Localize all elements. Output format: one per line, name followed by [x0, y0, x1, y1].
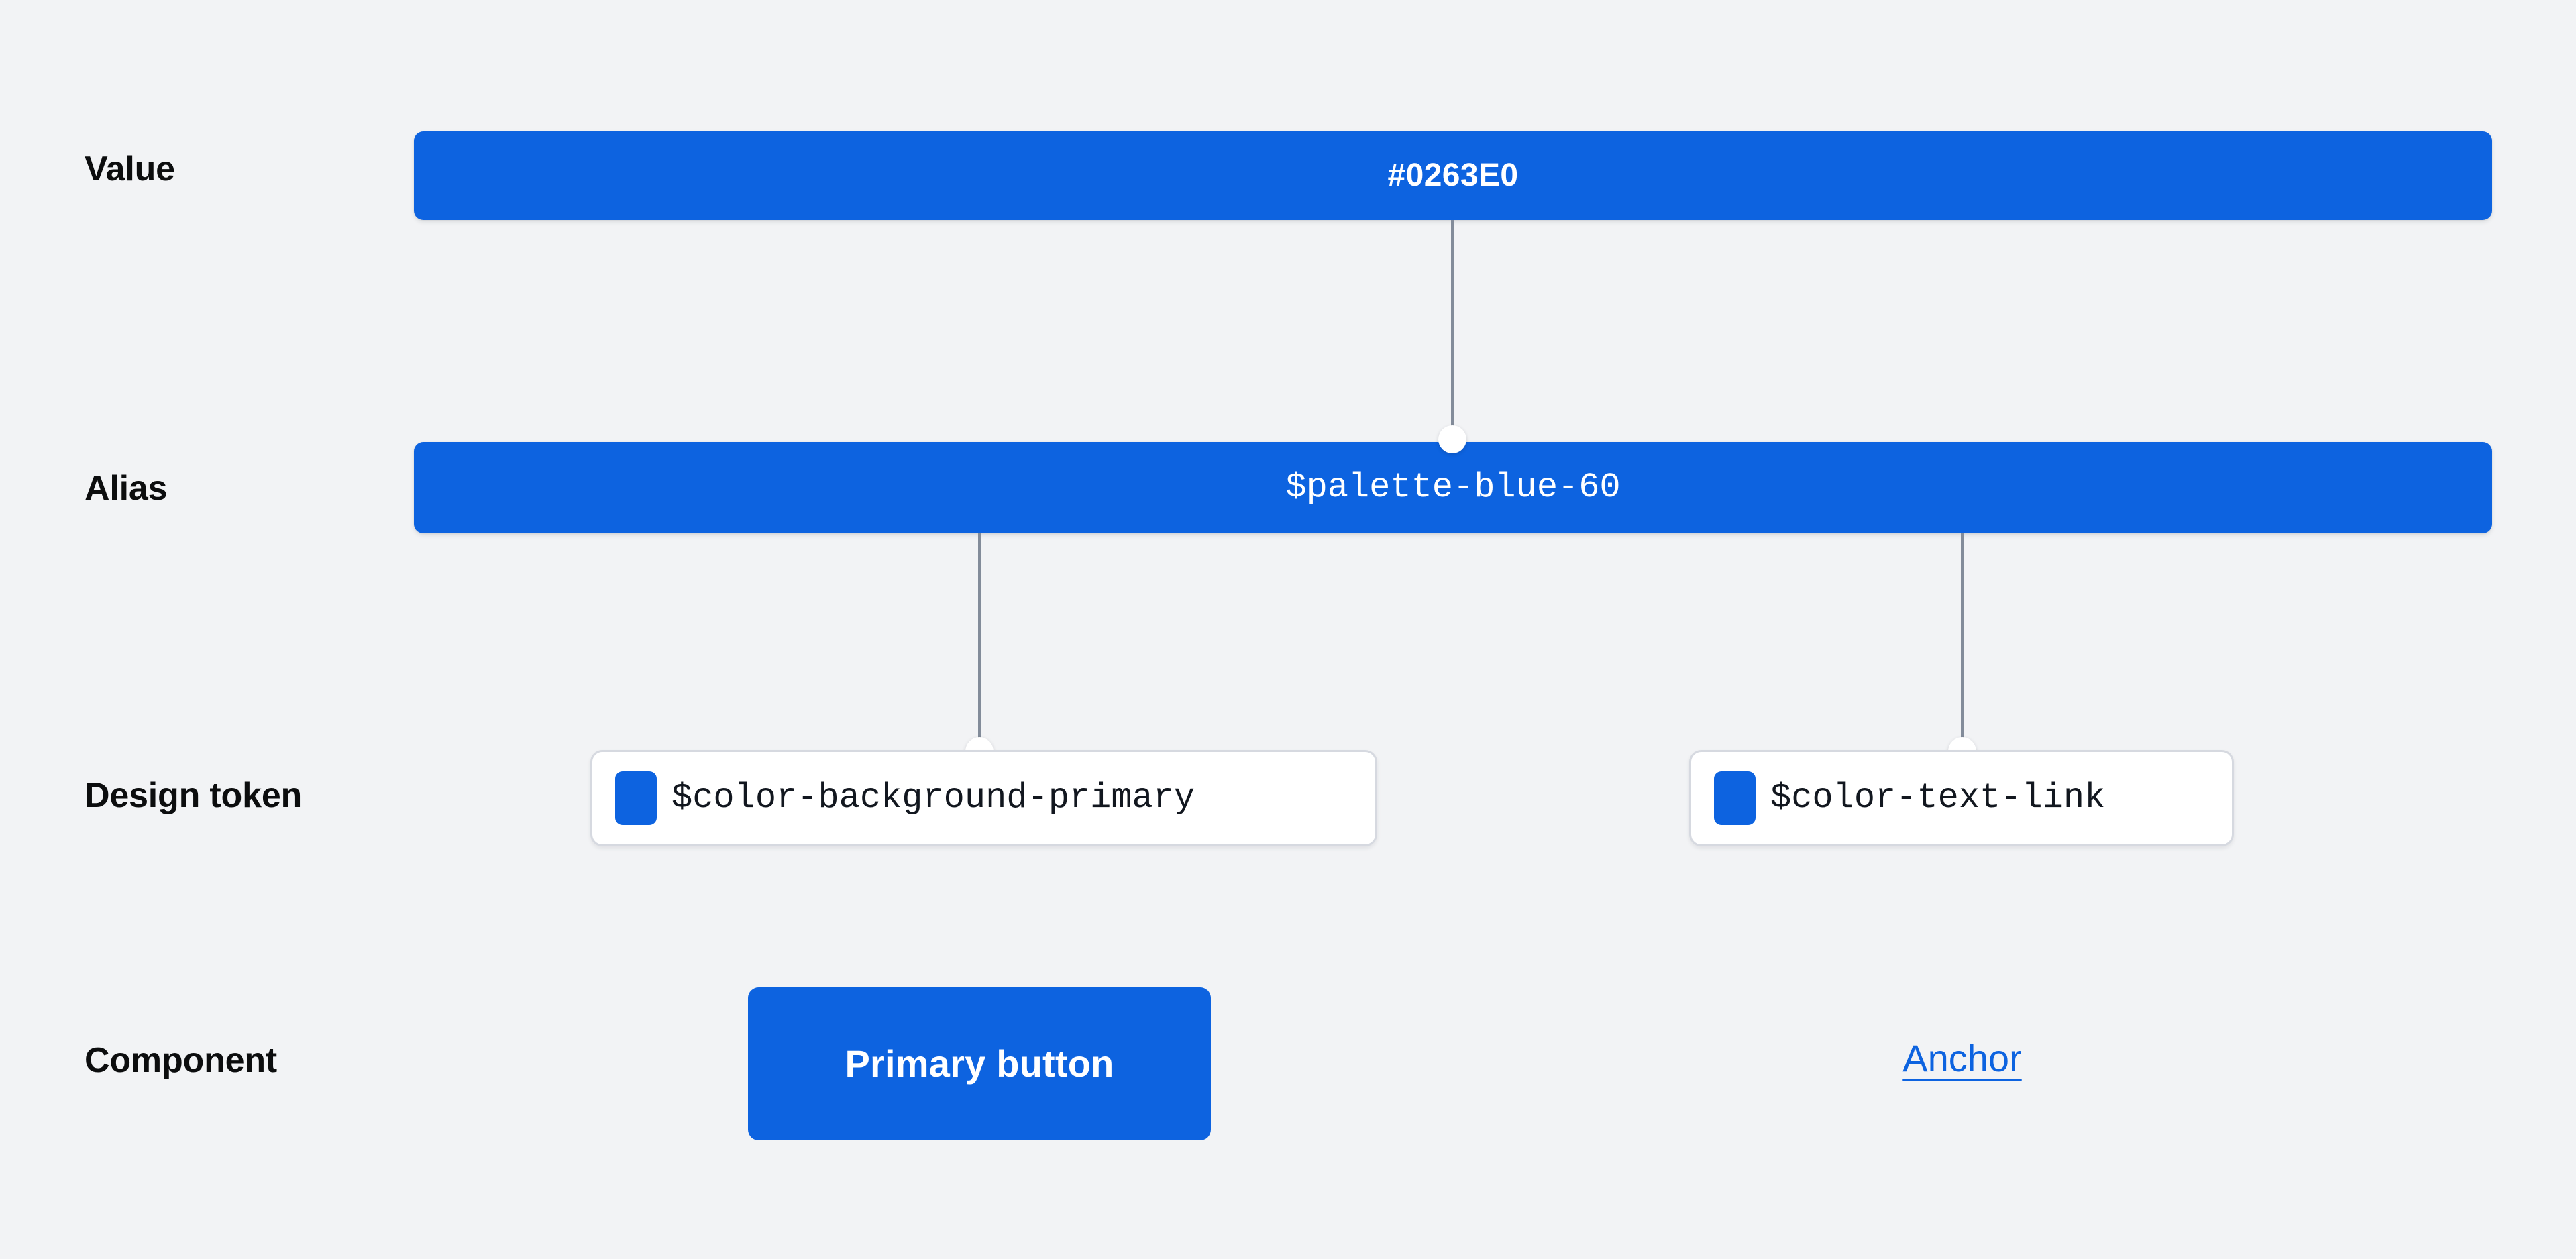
diagram-canvas: Value Alias Design token Component #0263… — [0, 0, 2576, 1259]
connector-dot-alias — [1438, 425, 1466, 453]
design-token-label: $color-background-primary — [672, 781, 1195, 816]
alias-bar[interactable]: $palette-blue-60 — [414, 442, 2492, 533]
connector-value-to-alias — [1451, 220, 1454, 442]
design-token-chip-text-link[interactable]: $color-text-link — [1689, 750, 2234, 846]
design-token-label: $color-text-link — [1770, 781, 2105, 816]
connector-alias-to-token-background — [978, 533, 981, 751]
row-label-alias: Alias — [85, 471, 167, 506]
connector-alias-to-token-link — [1961, 533, 1964, 751]
value-bar[interactable]: #0263E0 — [414, 131, 2492, 220]
design-token-chip-background-primary[interactable]: $color-background-primary — [590, 750, 1377, 846]
value-bar-label: #0263E0 — [1388, 160, 1519, 192]
color-swatch-icon — [1714, 771, 1756, 825]
row-label-design-token: Design token — [85, 778, 302, 813]
alias-bar-label: $palette-blue-60 — [1285, 470, 1620, 505]
row-label-value: Value — [85, 152, 175, 186]
row-label-component: Component — [85, 1043, 277, 1078]
primary-button[interactable]: Primary button — [748, 987, 1211, 1140]
anchor-link[interactable]: Anchor — [1872, 1040, 2053, 1077]
color-swatch-icon — [615, 771, 657, 825]
